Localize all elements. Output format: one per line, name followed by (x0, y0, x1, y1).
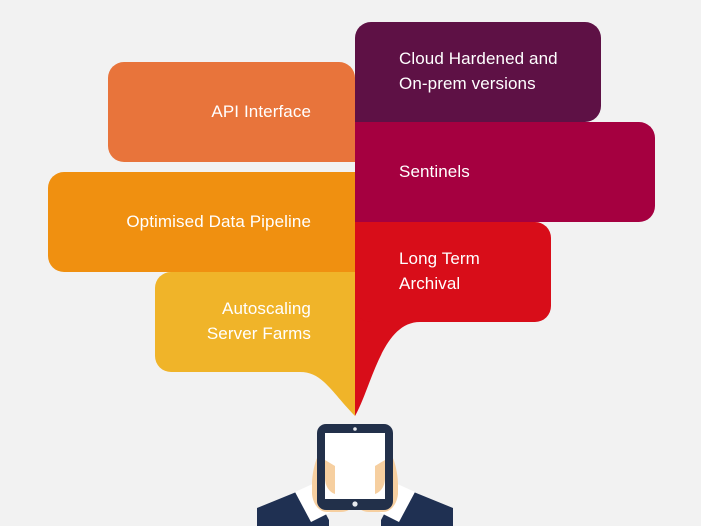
bubble-long-term-archival[interactable]: Long Term Archival (355, 222, 551, 322)
bubble-cloud-hardened[interactable]: Cloud Hardened and On-prem versions (355, 22, 601, 122)
bubble-label: Autoscaling Server Farms (207, 297, 311, 346)
bubble-label: Long Term Archival (399, 247, 480, 296)
bubble-label: Optimised Data Pipeline (126, 210, 311, 235)
bubble-sentinels[interactable]: Sentinels (355, 122, 655, 222)
hands-holding-tablet-illustration (255, 408, 455, 526)
bubble-autoscaling-server-farms[interactable]: Autoscaling Server Farms (155, 272, 355, 372)
infographic-canvas: Cloud Hardened and On-prem versions Sent… (0, 0, 701, 526)
bubble-label: API Interface (211, 100, 311, 125)
tablet-camera-icon (353, 427, 357, 431)
bubble-api-interface[interactable]: API Interface (108, 62, 355, 162)
tablet-home-button-icon[interactable] (352, 501, 357, 506)
bubble-optimised-data-pipeline[interactable]: Optimised Data Pipeline (48, 172, 355, 272)
bubble-label: Cloud Hardened and On-prem versions (399, 47, 558, 96)
bubble-label: Sentinels (399, 160, 470, 185)
